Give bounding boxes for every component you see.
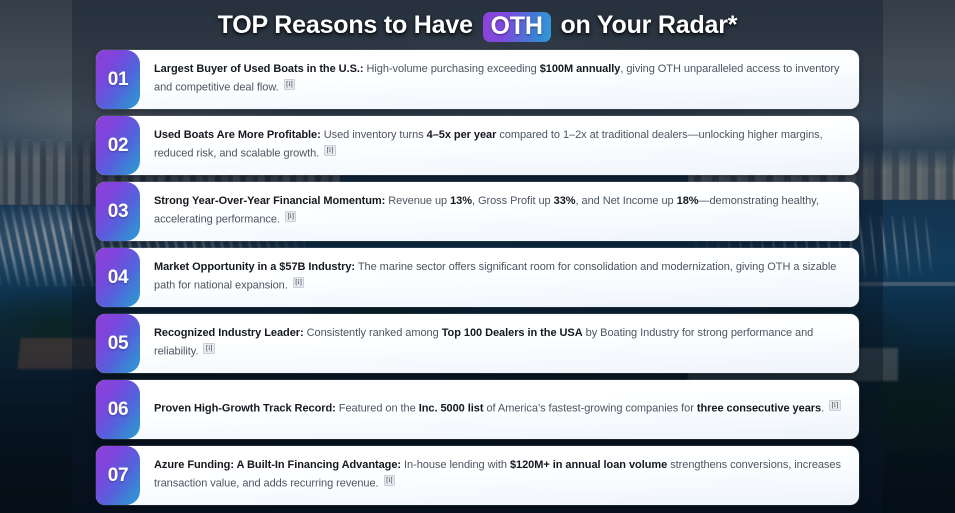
- citation-marker[interactable]: [i]: [285, 211, 296, 222]
- reason-text: of America’s fastest-growing companies f…: [483, 403, 696, 415]
- reason-card: 01Largest Buyer of Used Boats in the U.S…: [96, 50, 859, 109]
- reason-body: Recognized Industry Leader: Consistently…: [140, 314, 859, 373]
- reason-highlight: 13%: [450, 195, 472, 207]
- reason-number-badge: 01: [96, 50, 140, 109]
- citation-marker[interactable]: [i]: [293, 277, 304, 288]
- reason-body: Strong Year-Over-Year Financial Momentum…: [140, 182, 859, 241]
- page-title: TOP Reasons to Have OTH on Your Radar*: [0, 0, 955, 41]
- reason-text: Used inventory turns: [321, 129, 427, 141]
- page-title-after: on Your Radar*: [560, 11, 737, 39]
- reason-highlight: 18%: [677, 195, 699, 207]
- reason-highlight: $120M+ in annual loan volume: [510, 459, 667, 471]
- citation-marker[interactable]: [i]: [284, 79, 295, 90]
- reason-lead: Used Boats Are More Profitable:: [154, 129, 321, 141]
- oth-brand-badge: OTH: [483, 12, 551, 42]
- citation-marker[interactable]: [i]: [829, 400, 840, 411]
- reason-body: Largest Buyer of Used Boats in the U.S.:…: [140, 50, 859, 109]
- reason-number-badge: 07: [96, 446, 140, 505]
- reason-body: Azure Funding: A Built-In Financing Adva…: [140, 446, 859, 505]
- reason-lead: Strong Year-Over-Year Financial Momentum…: [154, 195, 385, 207]
- reason-card: 02Used Boats Are More Profitable: Used i…: [96, 116, 859, 175]
- reason-text: , and Net Income up: [576, 195, 677, 207]
- reason-text: In-house lending with: [401, 459, 510, 471]
- reason-text: High-volume purchasing exceeding: [363, 63, 539, 75]
- reason-lead: Market Opportunity in a $57B Industry:: [154, 261, 355, 273]
- citation-marker[interactable]: [i]: [203, 343, 214, 354]
- reason-highlight: Inc. 5000 list: [419, 403, 484, 415]
- reason-highlight: $100M annually: [540, 63, 621, 75]
- reason-lead: Proven High-Growth Track Record:: [154, 403, 336, 415]
- reason-number-badge: 06: [96, 380, 140, 439]
- citation-marker[interactable]: [i]: [384, 475, 395, 486]
- reason-card: 07Azure Funding: A Built-In Financing Ad…: [96, 446, 859, 505]
- reason-card: 03Strong Year-Over-Year Financial Moment…: [96, 182, 859, 241]
- page-title-before: TOP Reasons to Have: [218, 11, 473, 39]
- reason-number-badge: 02: [96, 116, 140, 175]
- reason-card: 05Recognized Industry Leader: Consistent…: [96, 314, 859, 373]
- reason-text: Consistently ranked among: [304, 327, 442, 339]
- reason-text: Featured on the: [336, 403, 419, 415]
- reason-body: Market Opportunity in a $57B Industry: T…: [140, 248, 859, 307]
- reason-body: Used Boats Are More Profitable: Used inv…: [140, 116, 859, 175]
- reason-number-badge: 05: [96, 314, 140, 373]
- reason-text: , Gross Profit up: [472, 195, 554, 207]
- reasons-list: 01Largest Buyer of Used Boats in the U.S…: [0, 50, 955, 505]
- reason-number-badge: 04: [96, 248, 140, 307]
- reason-body: Proven High-Growth Track Record: Feature…: [140, 380, 859, 439]
- reason-card: 06Proven High-Growth Track Record: Featu…: [96, 380, 859, 439]
- citation-marker[interactable]: [i]: [324, 145, 335, 156]
- reason-card: 04Market Opportunity in a $57B Industry:…: [96, 248, 859, 307]
- reason-text: Revenue up: [385, 195, 450, 207]
- reason-highlight: Top 100 Dealers in the USA: [442, 327, 583, 339]
- reason-highlight: three consecutive years: [697, 403, 821, 415]
- reason-lead: Largest Buyer of Used Boats in the U.S.:: [154, 63, 363, 75]
- reason-lead: Recognized Industry Leader:: [154, 327, 304, 339]
- reason-number-badge: 03: [96, 182, 140, 241]
- slide-root: TOP Reasons to Have OTH on Your Radar* 0…: [0, 0, 955, 513]
- reason-text: .: [821, 403, 827, 415]
- reason-highlight: 4–5x per year: [427, 129, 497, 141]
- reason-highlight: 33%: [554, 195, 576, 207]
- reason-lead: Azure Funding: A Built-In Financing Adva…: [154, 459, 401, 471]
